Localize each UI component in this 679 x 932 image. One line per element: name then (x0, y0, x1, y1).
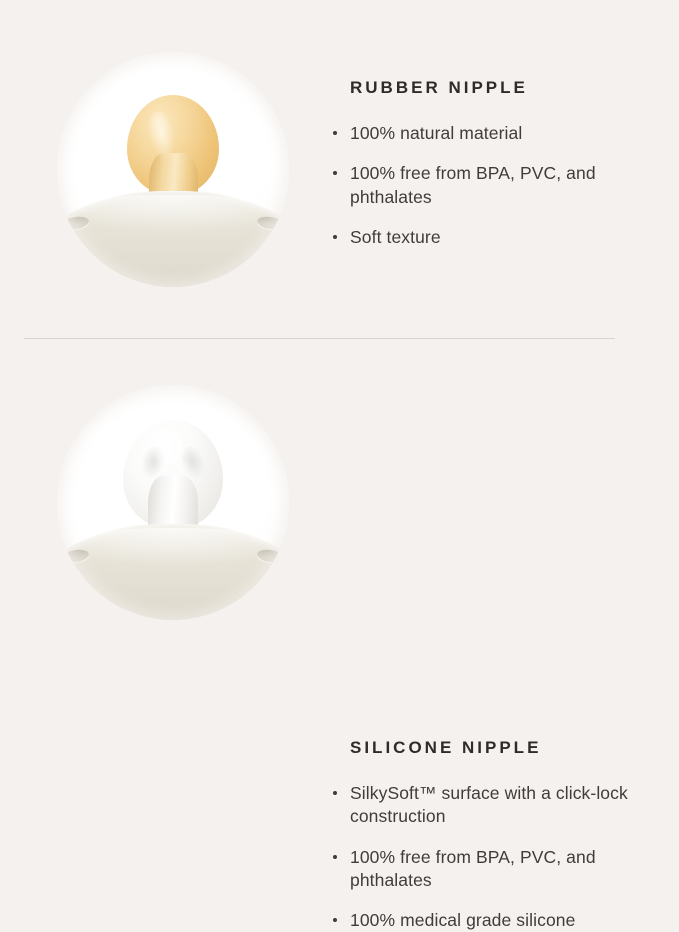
silicone-nipple-feature-list: SilkySoft™ surface with a click-lock con… (332, 782, 662, 932)
bullet-dot-icon (333, 171, 337, 175)
feature-text: 100% natural material (350, 122, 662, 145)
feature-text: 100% medical grade silicone (350, 909, 662, 932)
bullet-dot-icon (333, 235, 337, 239)
shield-sheen (57, 195, 289, 233)
pacifier-shield-base (57, 191, 289, 287)
list-item: 100% medical grade silicone (332, 909, 662, 932)
bullet-dot-icon (333, 855, 337, 859)
list-item: Soft texture (332, 226, 662, 249)
list-item: 100% free from BPA, PVC, and phthalates (332, 162, 662, 209)
list-item: 100% natural material (332, 122, 662, 145)
rubber-nipple-feature-list: 100% natural material 100% free from BPA… (332, 122, 662, 249)
bullet-dot-icon (333, 918, 337, 922)
silicone-nipple-heading: SILICONE NIPPLE (332, 738, 662, 758)
bullet-dot-icon (333, 791, 337, 795)
shield-sheen (57, 528, 289, 566)
feature-text: SilkySoft™ surface with a click-lock con… (350, 782, 662, 829)
section-silicone-nipple: SILICONE NIPPLE SilkySoft™ surface with … (0, 340, 679, 680)
feature-text: Soft texture (350, 226, 662, 249)
section-divider (24, 338, 615, 339)
feature-text: 100% free from BPA, PVC, and phthalates (350, 162, 662, 209)
silicone-nipple-image (57, 385, 289, 620)
section-rubber-nipple: RUBBER NIPPLE 100% natural material 100%… (0, 0, 679, 338)
rubber-nipple-copy: RUBBER NIPPLE 100% natural material 100%… (332, 78, 662, 249)
product-comparison-page: RUBBER NIPPLE 100% natural material 100%… (0, 0, 679, 680)
rubber-nipple-image (57, 52, 289, 287)
silicone-nipple-copy: SILICONE NIPPLE SilkySoft™ surface with … (332, 738, 662, 932)
list-item: 100% free from BPA, PVC, and phthalates (332, 846, 662, 893)
rubber-nipple-heading: RUBBER NIPPLE (332, 78, 662, 98)
pacifier-shield-base (57, 524, 289, 620)
feature-text: 100% free from BPA, PVC, and phthalates (350, 846, 662, 893)
bullet-dot-icon (333, 131, 337, 135)
nipple-highlight (151, 430, 187, 470)
list-item: SilkySoft™ surface with a click-lock con… (332, 782, 662, 829)
